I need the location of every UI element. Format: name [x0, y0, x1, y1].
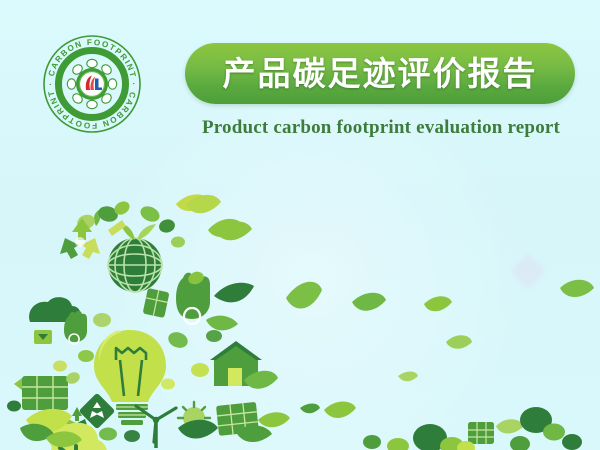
report-title-banner: 产品碳足迹评价报告: [185, 43, 575, 104]
leaf-icon: [324, 402, 356, 419]
globe-icon: [108, 223, 162, 292]
leaf-icon: [352, 293, 386, 311]
recycle-icon: [60, 218, 100, 259]
leaf-icon: [208, 219, 244, 237]
leaf-icon: [424, 296, 452, 311]
house-icon: [210, 341, 262, 386]
leaf-icon: [560, 280, 594, 297]
cover-header: CARBON FOOTPRINT · CARBON FOOTPRINT ·: [0, 0, 600, 160]
eco-cluster-right: [363, 407, 582, 450]
report-cover-page: CARBON FOOTPRINT · CARBON FOOTPRINT ·: [0, 0, 600, 450]
eco-icon-collage: [0, 170, 600, 450]
leaf-icon: [300, 404, 320, 414]
leaf-icon: [286, 282, 322, 309]
report-subtitle: Product carbon footprint evaluation repo…: [185, 117, 577, 139]
solar-panel-icon: [7, 370, 82, 411]
leaf-icon: [398, 372, 418, 382]
leaf-icon: [176, 194, 210, 211]
collage-svg: [0, 170, 600, 450]
leaf-icon: [446, 335, 472, 349]
seal-icon: CARBON FOOTPRINT · CARBON FOOTPRINT ·: [42, 34, 142, 134]
carbon-footprint-seal-logo: CARBON FOOTPRINT · CARBON FOOTPRINT ·: [42, 34, 142, 134]
page-title: 产品碳足迹评价报告: [223, 57, 538, 90]
leaf-icon: [206, 283, 254, 331]
